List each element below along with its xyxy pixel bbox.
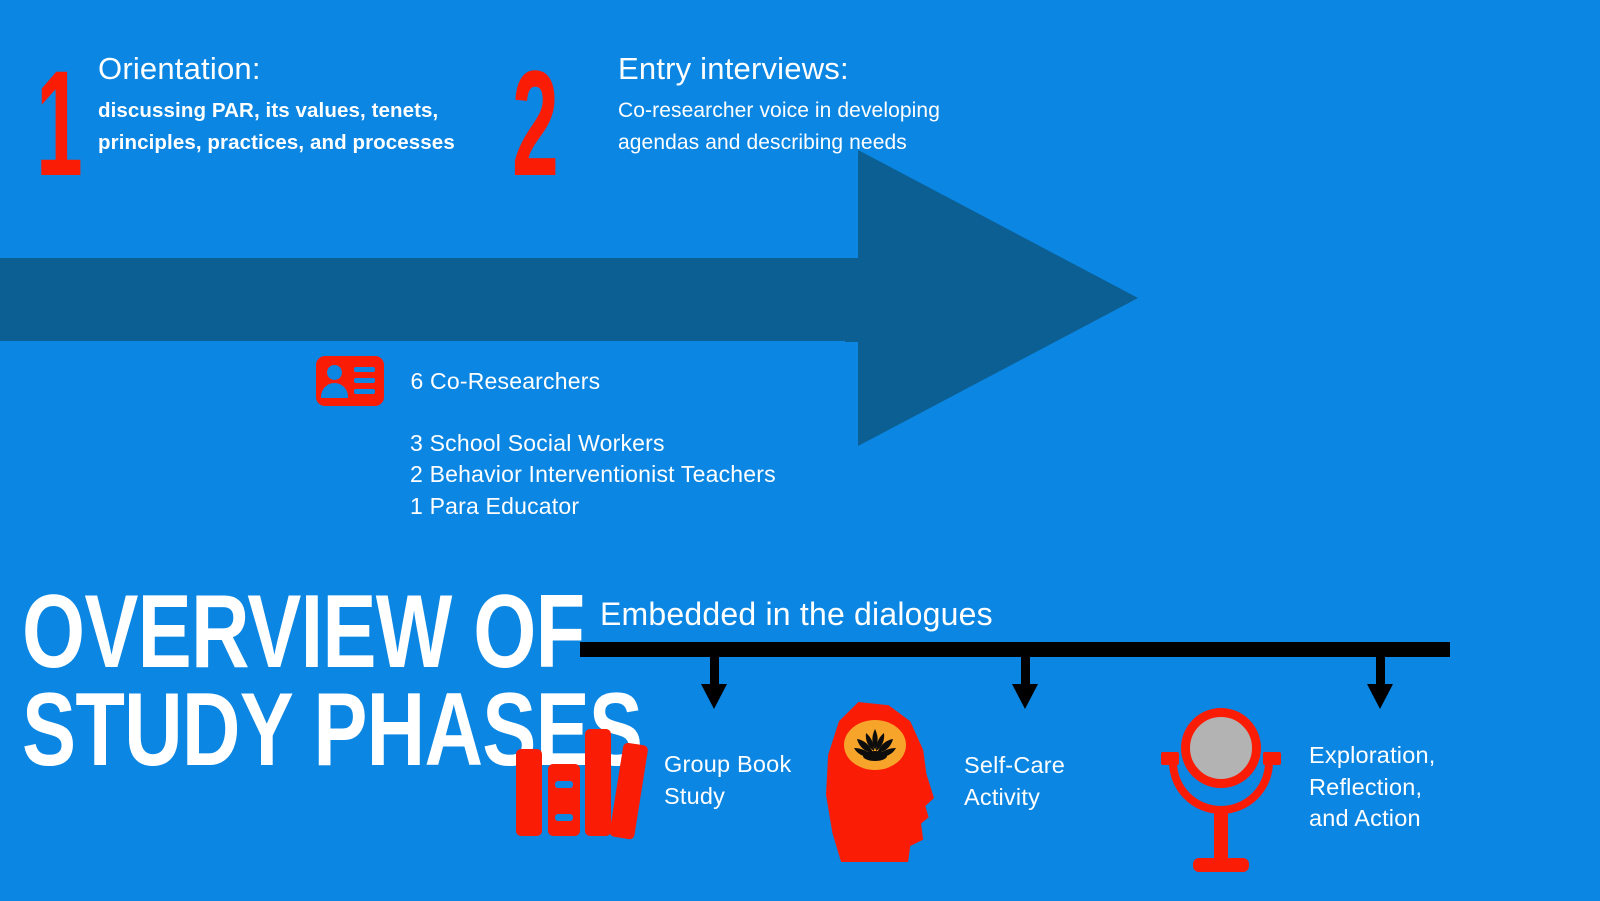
coresearchers-block: 6 Co-Researchers 3 School Social Workers…: [316, 356, 600, 406]
book-slot-2: [555, 814, 573, 821]
activity-label-line-1: Group Book: [664, 751, 791, 777]
activity-label-line-2: Activity: [964, 784, 1040, 810]
step-1-description: discussing PAR, its values, tenets, prin…: [98, 95, 508, 159]
mirror-glass: [1181, 708, 1261, 788]
embedded-label: Embedded in the dialogues: [600, 596, 993, 633]
mirror-pivot-right: [1263, 752, 1281, 765]
list-item: 3 School Social Workers: [410, 428, 776, 459]
process-arrow-shaft: [0, 258, 880, 342]
books-icon: [516, 726, 638, 836]
id-card-person-head: [327, 365, 342, 380]
id-card-line-1: [354, 367, 375, 372]
process-arrow-head: [858, 150, 1138, 446]
bracket-bar: [580, 642, 1450, 657]
coresearchers-total: 6 Co-Researchers: [410, 368, 600, 395]
activity-label-line-2: Study: [664, 783, 725, 809]
mirror-base: [1193, 858, 1249, 872]
book-slot-1: [555, 781, 573, 788]
step-2-title: Entry interviews:: [618, 52, 948, 86]
page-title-line-1: Overview of: [22, 584, 642, 682]
step-2-number: 2: [512, 52, 558, 195]
down-arrow-1-tip: [701, 684, 727, 709]
down-arrow-1: [701, 657, 727, 709]
activity-exploration: Exploration, Reflection, and Action: [1157, 700, 1436, 875]
id-card-line-2: [354, 378, 375, 383]
book-spine-2: [548, 764, 580, 836]
activity-label-line-1: Exploration,: [1309, 742, 1436, 768]
coresearchers-breakdown: 3 School Social Workers 2 Behavior Inter…: [410, 428, 776, 522]
activity-self-care-label: Self-Care Activity: [964, 750, 1065, 814]
step-1-title: Orientation:: [98, 52, 508, 86]
activity-label-line-2: Reflection,: [1309, 774, 1422, 800]
activity-exploration-label: Exploration, Reflection, and Action: [1309, 740, 1436, 836]
slide-canvas: 1 Orientation: discussing PAR, its value…: [0, 0, 1600, 900]
step-1-number: 1: [36, 52, 82, 195]
down-arrow-1-stem: [710, 657, 719, 687]
book-spine-1: [516, 749, 542, 836]
activity-label-line-1: Self-Care: [964, 752, 1065, 778]
id-card-icon: [316, 356, 384, 406]
mirror-pivot-left: [1161, 752, 1179, 765]
list-item: 1 Para Educator: [410, 491, 776, 522]
list-item: 2 Behavior Interventionist Teachers: [410, 459, 776, 490]
id-card-line-3: [354, 389, 375, 394]
step-2-body: Entry interviews: Co-researcher voice in…: [618, 52, 948, 158]
head-lotus-icon: [826, 702, 934, 862]
book-spine-3: [585, 729, 611, 836]
activity-group-book-study-label: Group Book Study: [664, 749, 791, 813]
book-spine-4: [609, 742, 649, 840]
activity-group-book-study: Group Book Study: [516, 726, 791, 836]
down-arrow-3-stem: [1376, 657, 1385, 687]
mirror-icon: [1157, 700, 1285, 875]
id-card-person-body: [321, 383, 348, 398]
step-1-body: Orientation: discussing PAR, its values,…: [98, 52, 508, 159]
down-arrow-2-stem: [1021, 657, 1030, 687]
activity-self-care: Self-Care Activity: [826, 702, 1065, 862]
activity-label-line-3: and Action: [1309, 805, 1421, 831]
lotus-icon: [852, 726, 898, 764]
mirror-stem: [1214, 810, 1228, 862]
step-2-description: Co-researcher voice in developing agenda…: [618, 95, 948, 158]
